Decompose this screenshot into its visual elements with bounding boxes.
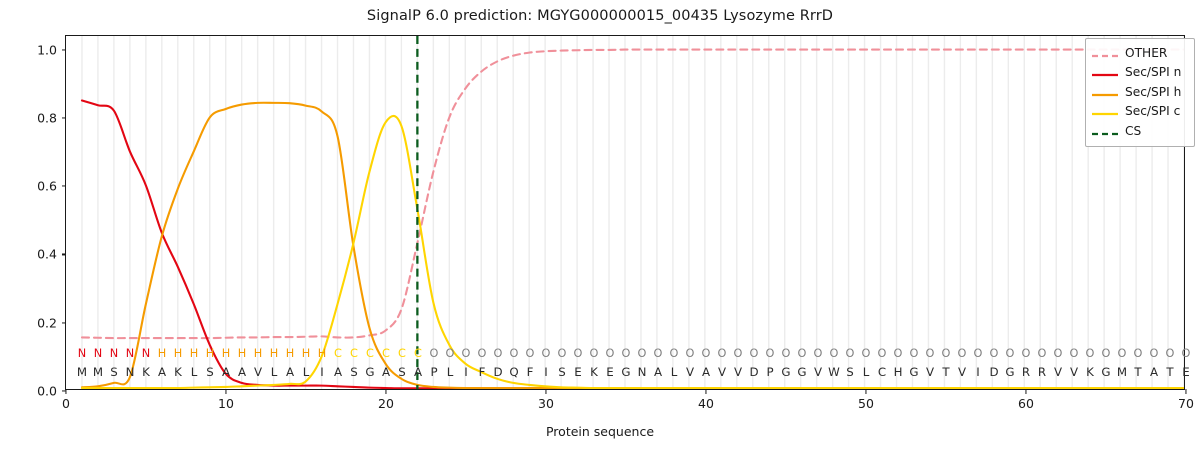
residue-region-label: N [94, 347, 102, 360]
residue-region-label: C [366, 347, 374, 360]
x-tick-label: 20 [378, 396, 394, 411]
residue-amino-acid: V [958, 365, 966, 379]
residue-amino-acid: G [1005, 365, 1014, 379]
residue-amino-acid: T [942, 365, 949, 379]
residue-amino-acid: P [430, 365, 437, 379]
residue-region-label: H [222, 347, 231, 360]
x-tick-mark [1185, 389, 1186, 394]
residue-amino-acid: P [766, 365, 773, 379]
residue-region-label: C [414, 347, 422, 360]
residue-region-label: O [510, 347, 519, 360]
residue-region-label: O [654, 347, 663, 360]
residue-region-label: H [238, 347, 247, 360]
residue-amino-acid: L [863, 365, 870, 379]
residue-amino-acid: G [621, 365, 630, 379]
x-tick-mark [1025, 389, 1026, 394]
residue-amino-acid: S [558, 365, 566, 379]
residue-amino-acid: F [479, 365, 486, 379]
residue-region-label: O [606, 347, 615, 360]
residue-amino-acid: V [686, 365, 694, 379]
residue-amino-acid: V [1070, 365, 1078, 379]
residue-amino-acid: T [1166, 365, 1173, 379]
residue-region-label: O [830, 347, 839, 360]
residue-region-label: O [1118, 347, 1127, 360]
residue-amino-acid: I [544, 365, 547, 379]
residue-amino-acid: V [254, 365, 262, 379]
x-tick-mark [705, 389, 706, 394]
residue-amino-acid: S [206, 365, 214, 379]
residue-amino-acid: I [320, 365, 323, 379]
y-tick-label: 0.4 [37, 247, 57, 262]
residue-amino-acid: K [142, 365, 150, 379]
residue-region-label: O [910, 347, 919, 360]
data-curves [66, 36, 1184, 389]
x-tick-mark [65, 389, 66, 394]
residue-amino-acid: L [671, 365, 678, 379]
residue-amino-acid: A [654, 365, 662, 379]
x-tick-label: 10 [218, 396, 234, 411]
residue-region-label: O [814, 347, 823, 360]
residue-amino-acid: E [606, 365, 613, 379]
residue-amino-acid: M [77, 365, 87, 379]
residue-region-label: N [78, 347, 86, 360]
residue-region-label: H [302, 347, 311, 360]
signalp-prediction-figure: SignalP 6.0 prediction: MGYG000000015_00… [0, 0, 1200, 450]
legend-swatch-icon [1092, 47, 1118, 59]
residue-amino-acid: D [493, 365, 502, 379]
residue-amino-acid: I [464, 365, 467, 379]
residue-amino-acid: H [894, 365, 903, 379]
legend-swatch-icon [1092, 66, 1118, 78]
residue-amino-acid: G [1101, 365, 1110, 379]
residue-amino-acid: A [382, 365, 390, 379]
residue-region-label: H [190, 347, 199, 360]
residue-region-label: O [686, 347, 695, 360]
y-tick-mark [62, 254, 67, 255]
residue-amino-acid: M [1117, 365, 1127, 379]
residue-amino-acid: V [734, 365, 742, 379]
residue-amino-acid: A [222, 365, 230, 379]
residue-region-label: C [398, 347, 406, 360]
y-tick-label: 0.8 [37, 110, 57, 125]
x-tick-mark [385, 389, 386, 394]
residue-region-label: H [206, 347, 215, 360]
x-tick-label: 70 [1178, 396, 1194, 411]
residue-amino-acid: S [110, 365, 118, 379]
residue-region-label: O [862, 347, 871, 360]
residue-region-label: O [558, 347, 567, 360]
residue-region-label: O [702, 347, 711, 360]
residue-region-label: O [574, 347, 583, 360]
residue-amino-acid: V [1054, 365, 1062, 379]
residue-amino-acid: Q [509, 365, 518, 379]
x-tick-mark [545, 389, 546, 394]
residue-region-label: H [318, 347, 327, 360]
legend-label: CS [1125, 124, 1141, 138]
residue-region-label: N [142, 347, 150, 360]
residue-region-label: O [1022, 347, 1031, 360]
residue-amino-acid: A [286, 365, 294, 379]
residue-amino-acid: D [989, 365, 998, 379]
residue-amino-acid: V [718, 365, 726, 379]
x-axis-label: Protein sequence [0, 424, 1200, 439]
residue-amino-acid: A [414, 365, 422, 379]
legend-item-sec-spi-n: Sec/SPI n [1092, 63, 1188, 83]
x-tick-label: 40 [698, 396, 714, 411]
residue-amino-acid: A [1150, 365, 1158, 379]
residue-amino-acid: C [878, 365, 886, 379]
residue-region-label: O [542, 347, 551, 360]
residue-amino-acid: N [638, 365, 647, 379]
residue-amino-acid: E [1182, 365, 1189, 379]
legend-swatch-icon [1092, 125, 1118, 137]
residue-region-label: O [718, 347, 727, 360]
residue-region-label: O [942, 347, 951, 360]
y-tick-label: 0.0 [37, 384, 57, 399]
residue-amino-acid: M [93, 365, 103, 379]
legend-label: Sec/SPI n [1125, 65, 1181, 79]
residue-amino-acid: L [191, 365, 198, 379]
y-tick-mark [62, 117, 67, 118]
sequence-annotation-row: MMSNKAKLSAAVLALIASGASAPLIFDQFISEKEGNALVA… [66, 365, 1184, 380]
residue-region-label: O [1070, 347, 1079, 360]
residue-amino-acid: D [749, 365, 758, 379]
residue-region-label: O [1102, 347, 1111, 360]
residue-region-label: O [846, 347, 855, 360]
page-title: SignalP 6.0 prediction: MGYG000000015_00… [0, 8, 1200, 24]
residue-region-label: O [446, 347, 455, 360]
residue-amino-acid: V [814, 365, 822, 379]
residue-region-label: O [1166, 347, 1175, 360]
residue-amino-acid: R [1038, 365, 1046, 379]
legend-swatch-icon [1092, 105, 1118, 117]
plot-area: 0.00.20.40.60.81.0 010203040506070 NNNNN… [65, 35, 1185, 390]
y-tick-mark [62, 49, 67, 50]
x-tick-label: 0 [62, 396, 70, 411]
residue-region-label: O [494, 347, 503, 360]
residue-region-label: O [766, 347, 775, 360]
residue-region-label: O [958, 347, 967, 360]
legend: OTHERSec/SPI nSec/SPI hSec/SPI cCS [1085, 38, 1195, 147]
residue-amino-acid: A [702, 365, 710, 379]
residue-amino-acid: T [1134, 365, 1141, 379]
legend-item-sec-spi-c: Sec/SPI c [1092, 102, 1188, 122]
residue-region-label: O [782, 347, 791, 360]
residue-region-label: O [1054, 347, 1063, 360]
residue-region-label: O [638, 347, 647, 360]
residue-amino-acid: G [781, 365, 790, 379]
residue-region-label: O [734, 347, 743, 360]
residue-region-label: O [590, 347, 599, 360]
legend-item-sec-spi-h: Sec/SPI h [1092, 82, 1188, 102]
residue-amino-acid: A [334, 365, 342, 379]
legend-item-other: OTHER [1092, 43, 1188, 63]
residue-region-label: H [286, 347, 295, 360]
residue-region-label: H [254, 347, 263, 360]
x-tick-mark [865, 389, 866, 394]
residue-amino-acid: A [238, 365, 246, 379]
residue-region-label: O [462, 347, 471, 360]
residue-amino-acid: F [527, 365, 534, 379]
residue-region-label: O [878, 347, 887, 360]
residue-region-label: N [110, 347, 118, 360]
residue-region-label: C [350, 347, 358, 360]
x-tick-label: 50 [858, 396, 874, 411]
residue-amino-acid: V [926, 365, 934, 379]
legend-label: Sec/SPI c [1125, 104, 1180, 118]
residue-region-label: O [1182, 347, 1191, 360]
residue-region-label: O [1086, 347, 1095, 360]
residue-amino-acid: L [447, 365, 454, 379]
residue-region-label: O [798, 347, 807, 360]
residue-amino-acid: N [126, 365, 135, 379]
x-tick-mark [225, 389, 226, 394]
residue-region-label: O [430, 347, 439, 360]
residue-region-label: O [974, 347, 983, 360]
residue-region-label: O [1038, 347, 1047, 360]
residue-region-label: C [382, 347, 390, 360]
legend-item-cs: CS [1092, 121, 1188, 141]
residue-amino-acid: K [174, 365, 182, 379]
y-tick-label: 1.0 [37, 42, 57, 57]
residue-region-label: N [126, 347, 134, 360]
residue-region-label: H [270, 347, 279, 360]
y-tick-label: 0.2 [37, 315, 57, 330]
residue-region-label: O [1006, 347, 1015, 360]
residue-amino-acid: R [1022, 365, 1030, 379]
residue-region-label: O [750, 347, 759, 360]
residue-region-label: O [1150, 347, 1159, 360]
region-annotation-row: NNNNNHHHHHHHHHHHCCCCCCOOOOOOOOOOOOOOOOOO… [66, 347, 1184, 362]
x-tick-label: 60 [1018, 396, 1034, 411]
residue-amino-acid: S [398, 365, 406, 379]
residue-amino-acid: G [909, 365, 918, 379]
x-tick-label: 30 [538, 396, 554, 411]
residue-region-label: H [174, 347, 183, 360]
residue-amino-acid: I [976, 365, 979, 379]
residue-region-label: O [894, 347, 903, 360]
residue-region-label: O [526, 347, 535, 360]
residue-amino-acid: G [797, 365, 806, 379]
residue-amino-acid: A [158, 365, 166, 379]
residue-region-label: C [334, 347, 342, 360]
residue-amino-acid: W [828, 365, 840, 379]
residue-amino-acid: S [846, 365, 854, 379]
legend-swatch-icon [1092, 86, 1118, 98]
legend-label: Sec/SPI h [1125, 85, 1181, 99]
residue-region-label: O [926, 347, 935, 360]
residue-amino-acid: K [590, 365, 598, 379]
residue-amino-acid: G [365, 365, 374, 379]
residue-amino-acid: K [1086, 365, 1094, 379]
y-tick-mark [62, 322, 67, 323]
residue-amino-acid: L [303, 365, 310, 379]
residue-region-label: O [990, 347, 999, 360]
residue-amino-acid: L [271, 365, 278, 379]
legend-label: OTHER [1125, 46, 1167, 60]
residue-region-label: O [622, 347, 631, 360]
residue-region-label: O [478, 347, 487, 360]
y-tick-mark [62, 186, 67, 187]
residue-region-label: H [158, 347, 167, 360]
residue-amino-acid: S [350, 365, 358, 379]
residue-region-label: O [670, 347, 679, 360]
residue-amino-acid: E [574, 365, 581, 379]
y-tick-label: 0.6 [37, 179, 57, 194]
residue-region-label: O [1134, 347, 1143, 360]
